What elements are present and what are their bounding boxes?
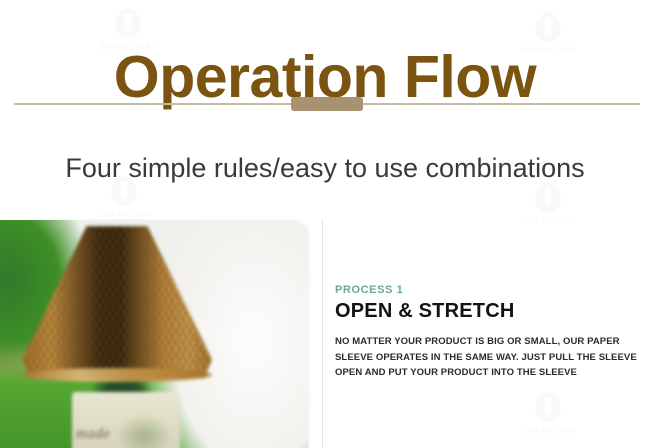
watermark-logo-icon [535,182,561,212]
wine-bottle-label-text: made [76,426,111,443]
slide-content: made PROCESS 1 OPEN & STRETCH NO MATTER … [0,218,650,448]
honeycomb-sleeve-rim [22,368,212,382]
process-text-block: PROCESS 1 OPEN & STRETCH NO MATTER YOUR … [335,284,641,381]
process-body-text: NO MATTER YOUR PRODUCT IS BIG OR SMALL, … [335,334,641,381]
slide-root: SHANGHAI SHANGHAI SHANGHAI SHANGHAI SHAN… [0,0,650,448]
column-divider [322,220,323,448]
divider-knob [291,97,363,111]
title-divider [14,103,640,105]
process-photo: made [0,220,308,448]
page-subtitle: Four simple rules/easy to use combinatio… [0,150,650,186]
process-heading: OPEN & STRETCH [335,300,641,323]
slide-header: Operation Flow Four simple rules/easy to… [0,0,650,186]
wine-bottle-label: made [72,392,180,448]
process-eyebrow: PROCESS 1 [335,284,641,296]
